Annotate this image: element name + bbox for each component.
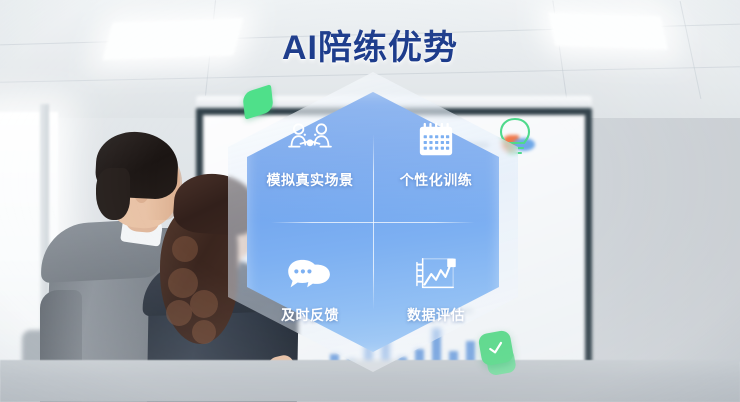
chat-bubbles-icon [287,254,333,296]
quadrant-simulate[interactable]: 模拟真实场景 [247,92,373,222]
quadrant-assessment[interactable]: 数据评估 [373,222,499,352]
woman-hair-curl [192,320,216,344]
man-hair [96,168,130,220]
woman-hair-curl [166,300,192,326]
hexagon-infographic: 模拟真实场景 [228,72,518,372]
quadrant-label-personalized: 个性化训练 [400,170,473,190]
quadrant-feedback[interactable]: 及时反馈 [247,222,373,352]
screenshot-root: AI陪练优势 [0,0,740,402]
calendar-icon [413,119,459,161]
quadrant-personalized[interactable]: 个性化训练 [373,92,499,222]
page-title: AI陪练优势 [0,20,740,69]
quadrant-label-assessment: 数据评估 [407,305,465,325]
two-people-conversation-icon [287,119,333,161]
quadrant-label-feedback: 及时反馈 [281,305,339,325]
woman-hair-curl [172,236,198,262]
rising-line-chart-icon [413,254,459,296]
woman-hair-curl [190,290,218,318]
quadrant-label-simulate: 模拟真实场景 [267,170,354,190]
hexagon-quadrants: 模拟真实场景 [247,92,499,352]
